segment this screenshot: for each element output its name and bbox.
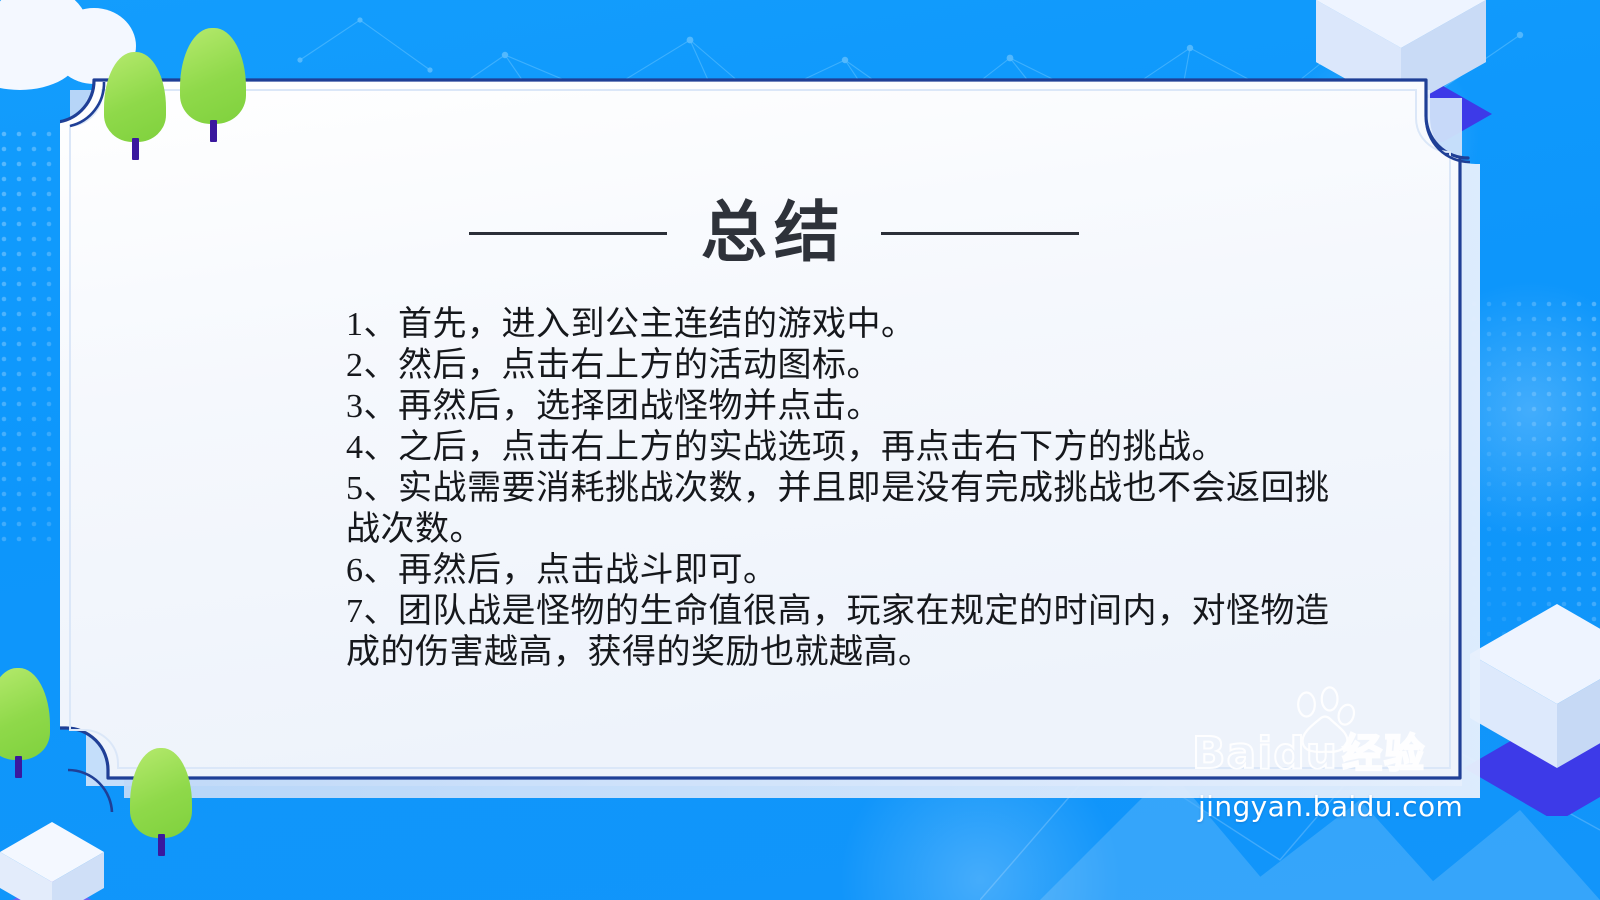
list-item: 5、实战需要消耗挑战次数，并且即是没有完成挑战也不会返回挑战次数。 (346, 468, 1346, 550)
slide-canvas: 总结 1、首先，进入到公主连结的游戏中。 2、然后，点击右上方的活动图标。 3、… (0, 0, 1600, 900)
list-item: 7、团队战是怪物的生命值很高，玩家在规定的时间内，对怪物造成的伤害越高，获得的奖… (346, 591, 1346, 673)
page-title: 总结 (701, 200, 847, 266)
tree-icon-3 (0, 668, 50, 776)
summary-step-list: 1、首先，进入到公主连结的游戏中。 2、然后，点击右上方的活动图标。 3、再然后… (346, 304, 1346, 673)
list-item: 6、再然后，点击战斗即可。 (346, 550, 1346, 591)
list-item: 3、再然后，选择团战怪物并点击。 (346, 386, 1346, 427)
list-item: 4、之后，点击右上方的实战选项，再点击右下方的挑战。 (346, 427, 1346, 468)
slide-content: 总结 1、首先，进入到公主连结的游戏中。 2、然后，点击右上方的活动图标。 3、… (88, 96, 1460, 788)
list-item: 2、然后，点击右上方的活动图标。 (346, 345, 1346, 386)
list-item: 1、首先，进入到公主连结的游戏中。 (346, 304, 1346, 345)
title-rule-right-icon (881, 232, 1079, 235)
title-rule-left-icon (469, 232, 667, 235)
title-row: 总结 (134, 200, 1414, 266)
isometric-cube-bottom-left (0, 820, 114, 900)
